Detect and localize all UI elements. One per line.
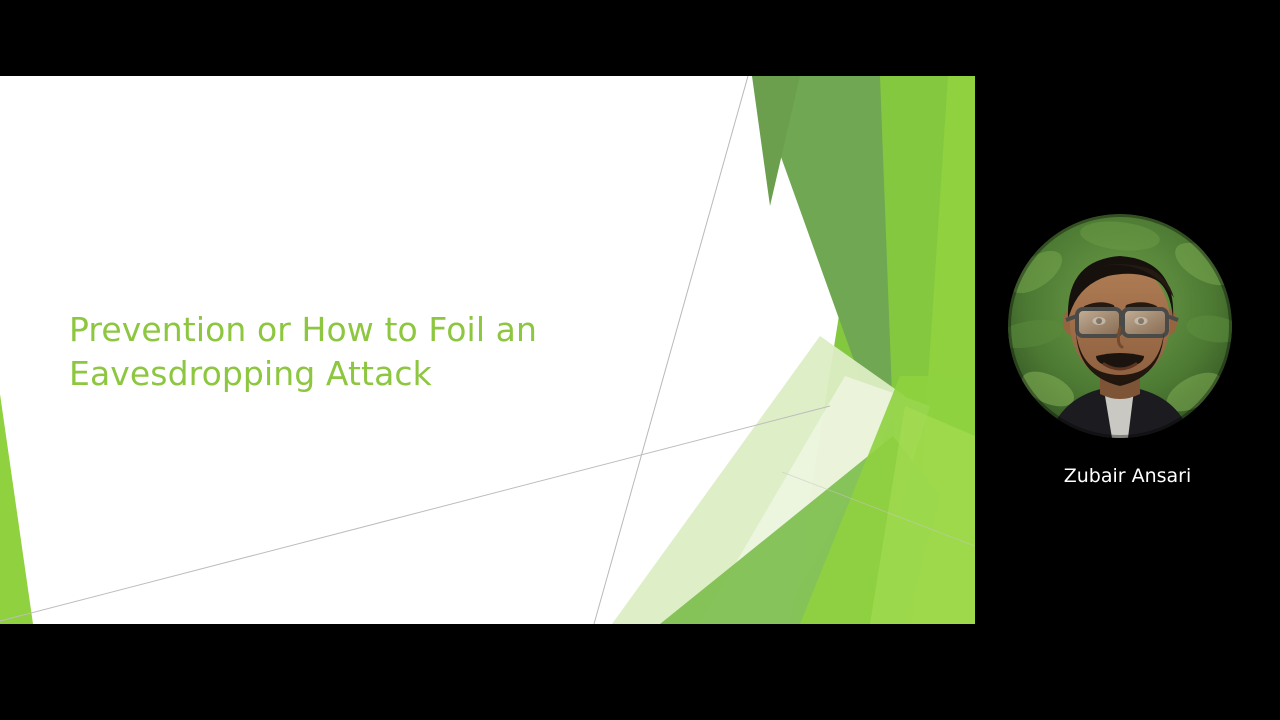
video-frame: Prevention or How to Foil an Eavesdroppi… [0,0,1280,720]
dark-green-sliver [752,76,800,206]
presenter-name: Zubair Ansari [975,464,1280,488]
bright-green-lower-overlay [800,376,975,624]
mid-bright-band [790,76,948,624]
right-bright-band [905,76,975,624]
hairline-diagonal-short [782,472,975,546]
pale-green-fan [612,336,905,624]
left-green-wedge [0,394,33,624]
light-translucent-wedge [870,406,975,624]
presentation-slide: Prevention or How to Foil an Eavesdroppi… [0,76,975,624]
hairline-diagonal-cross [0,406,830,621]
dark-green-triangle [752,76,895,475]
avatar-portrait-image [1008,214,1232,438]
presenter-panel: Zubair Ansari [975,76,1280,624]
mid-green-lower-sweep [660,436,940,624]
very-pale-green-fan [700,376,930,624]
avatar [1008,214,1232,438]
avatar-glasses [1066,309,1178,336]
slide-title: Prevention or How to Foil an Eavesdroppi… [69,308,629,396]
